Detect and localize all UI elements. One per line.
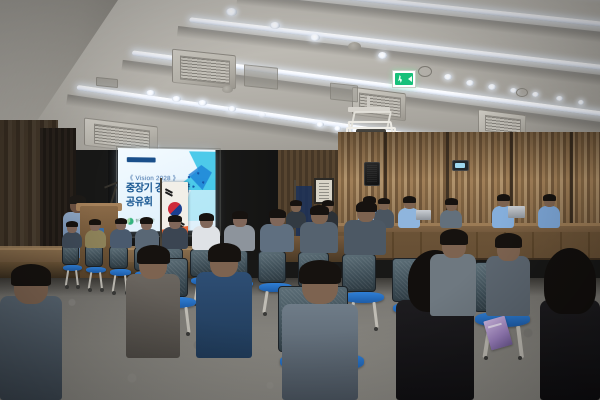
recessed-downlight: [488, 84, 496, 90]
wall-control-panel[interactable]: [452, 160, 469, 171]
recessed-downlight: [532, 92, 539, 97]
ceiling-access-hatch: [96, 77, 118, 88]
ceiling-smoke-detector: [516, 88, 528, 97]
recessed-downlight: [316, 122, 324, 127]
recessed-downlight: [172, 96, 181, 102]
recessed-downlight: [578, 100, 584, 105]
recessed-downlight: [270, 22, 280, 29]
recessed-downlight: [466, 80, 474, 86]
seated-attendee: [85, 220, 106, 248]
recessed-downlight: [556, 96, 563, 101]
ceiling-access-hatch: [244, 64, 278, 90]
attendee-seated-right: [430, 232, 476, 316]
conference-chair[interactable]: [62, 244, 84, 290]
attendee-seated-right: [486, 236, 530, 316]
recessed-downlight: [378, 52, 387, 59]
recessed-downlight: [258, 112, 266, 118]
seated-attendee: [344, 202, 386, 255]
recessed-downlight: [310, 34, 320, 41]
recessed-downlight: [228, 106, 236, 112]
slide-vision-label: 《 Vision 2028 》: [127, 172, 179, 182]
laptop[interactable]: [416, 210, 431, 220]
wall-speaker: [364, 162, 380, 186]
recessed-downlight: [444, 74, 452, 80]
ceiling-speaker: [222, 86, 233, 93]
slide-tag-badge: [127, 157, 156, 162]
seated-official: [538, 194, 560, 228]
seated-attendee: [110, 219, 132, 248]
ac-cassette-unit: [172, 49, 236, 90]
attendee-foreground-center: [282, 260, 358, 400]
seated-attendee: [162, 216, 188, 249]
attendee-foreground-left: [0, 268, 62, 400]
attendee-seated-grey: [126, 248, 180, 358]
attendee-seated-blue: [196, 246, 252, 358]
ceiling-speaker: [418, 66, 432, 77]
recessed-downlight: [226, 8, 237, 16]
seated-attendee: [300, 206, 338, 253]
seated-official: [440, 198, 462, 228]
laptop[interactable]: [508, 206, 525, 218]
slide-title-line-2: 공유회: [126, 197, 153, 208]
seated-attendee: [62, 222, 82, 248]
conference-hall-photo: 《 Vision 2028 》 중장기 경영전략 공유회 한국환경공단: [0, 0, 600, 400]
ceiling-speaker: [348, 42, 361, 51]
emergency-exit-sign: [392, 70, 416, 88]
recessed-downlight: [146, 90, 155, 96]
conference-chair[interactable]: [85, 245, 108, 293]
recessed-downlight: [198, 100, 207, 106]
attendee-foreground-right: [540, 248, 600, 400]
seated-attendee: [260, 210, 294, 252]
